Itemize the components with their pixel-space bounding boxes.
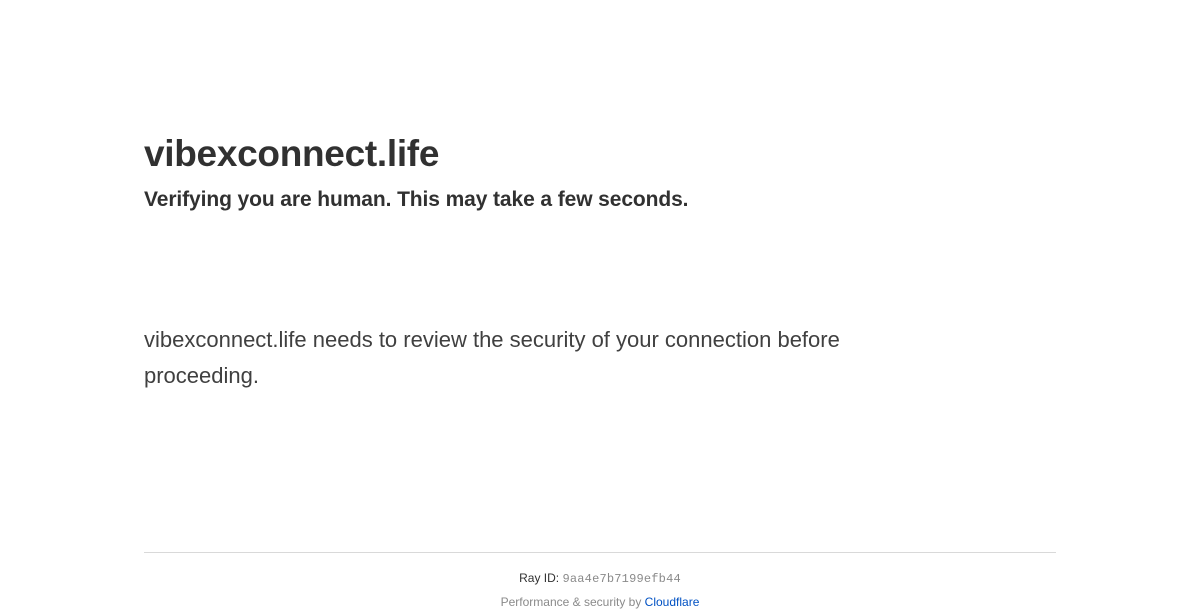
ray-id-label: Ray ID: — [519, 571, 559, 585]
ray-id-line: Ray ID: 9aa4e7b7199efb44 — [144, 553, 1056, 586]
ray-id-value: 9aa4e7b7199efb44 — [562, 572, 680, 586]
attribution-line: Performance & security by Cloudflare — [144, 586, 1056, 609]
headline-block: vibexconnect.life Verifying you are huma… — [144, 131, 1056, 214]
footer: Ray ID: 9aa4e7b7199efb44 Performance & s… — [144, 552, 1056, 609]
page-title: vibexconnect.life — [144, 131, 1056, 177]
security-review-message: vibexconnect.life needs to review the se… — [144, 322, 944, 394]
challenge-widget-slot[interactable] — [144, 226, 1056, 318]
attribution-prefix: Performance & security by — [501, 595, 645, 609]
content-column: vibexconnect.life Verifying you are huma… — [144, 0, 1056, 600]
verification-subtitle: Verifying you are human. This may take a… — [144, 177, 1056, 214]
challenge-page: vibexconnect.life Verifying you are huma… — [0, 0, 1200, 600]
cloudflare-link[interactable]: Cloudflare — [645, 595, 700, 609]
